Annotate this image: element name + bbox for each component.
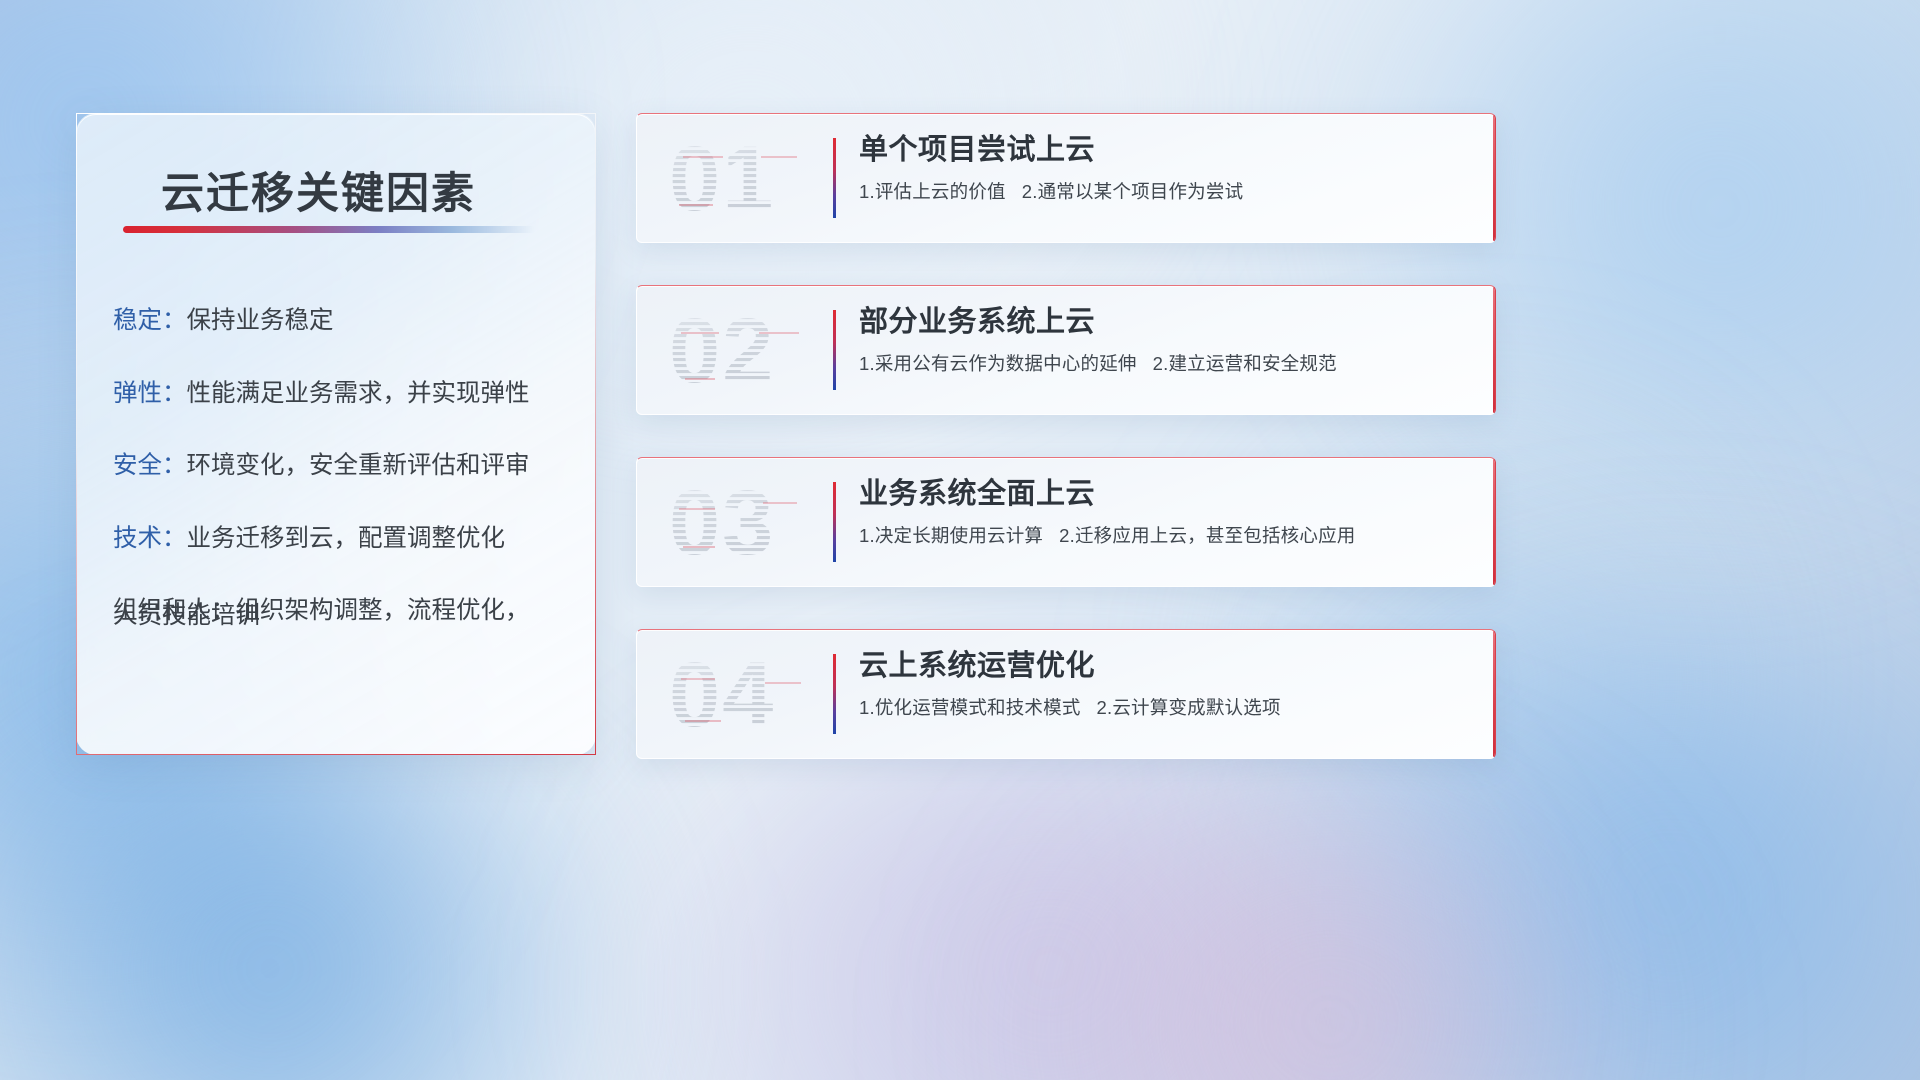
stage-point-1: 1.优化运营模式和技术模式	[859, 697, 1081, 718]
factor-label: 弹性：	[113, 380, 187, 407]
stage-title: 云上系统运营优化	[859, 648, 1475, 684]
stage-point-1: 1.采用公有云作为数据中心的延伸	[859, 353, 1137, 374]
stage-number-02-icon: 02	[665, 298, 833, 402]
stage-description: 1.采用公有云作为数据中心的延伸2.建立运营和安全规范	[859, 350, 1475, 376]
factor-item-security: 安全：环境变化，安全重新评估和评审	[113, 454, 569, 479]
stage-number-01-icon: 01	[665, 126, 833, 230]
stage-description: 1.评估上云的价值2.通常以某个项目作为尝试	[859, 178, 1475, 204]
stage-number-04-icon: 04	[665, 642, 833, 746]
factor-label: 稳定：	[113, 307, 187, 334]
factor-item-organization: 组织和人：组织架构调整，流程优化， 人员技能培训	[113, 599, 569, 628]
factor-value: 业务迁移到云，配置调整优化	[187, 525, 506, 552]
factor-label: 技术：	[113, 525, 187, 552]
stage-card-list: 01 单个项目尝试上云 1.评估上云的价值2.通常以某个项目作为尝试	[636, 113, 1858, 801]
stage-point-2: 2.建立运营和安全规范	[1153, 353, 1337, 374]
stage-card-01[interactable]: 01 单个项目尝试上云 1.评估上云的价值2.通常以某个项目作为尝试	[636, 113, 1496, 243]
factor-item-technology: 技术：业务迁移到云，配置调整优化	[113, 527, 569, 552]
stage-number-03-icon: 03	[665, 470, 833, 574]
stage-point-1: 1.决定长期使用云计算	[859, 525, 1043, 546]
stage-card-02[interactable]: 02 部分业务系统上云 1.采用公有云作为数据中心的延伸2.建立运营和安全规范	[636, 285, 1496, 415]
stage-accent-bar	[833, 138, 836, 218]
stage-description: 1.优化运营模式和技术模式2.云计算变成默认选项	[859, 694, 1475, 720]
page-title: 云迁移关键因素	[161, 159, 476, 221]
stage-point-2: 2.云计算变成默认选项	[1097, 697, 1281, 718]
stage-point-2: 2.迁移应用上云，甚至包括核心应用	[1059, 525, 1355, 546]
factor-value: 环境变化，安全重新评估和评审	[187, 452, 530, 479]
svg-text:03: 03	[669, 472, 775, 574]
svg-text:01: 01	[669, 128, 775, 230]
stage-point-1: 1.评估上云的价值	[859, 181, 1006, 202]
stage-card-04[interactable]: 04 云上系统运营优化 1.优化运营模式和技术模式2.云计算变成默认选项	[636, 629, 1496, 759]
title-underline-accent	[123, 226, 535, 233]
factor-value: 组织架构调整，流程优化，	[236, 597, 530, 624]
svg-text:04: 04	[669, 644, 775, 746]
stage-description: 1.决定长期使用云计算2.迁移应用上云，甚至包括核心应用	[859, 522, 1475, 548]
svg-text:02: 02	[669, 300, 775, 402]
factor-value: 保持业务稳定	[187, 307, 334, 334]
stage-title: 部分业务系统上云	[859, 304, 1475, 340]
factor-list: 稳定：保持业务稳定 弹性：性能满足业务需求，并实现弹性 安全：环境变化，安全重新…	[113, 309, 569, 676]
stage-accent-bar	[833, 654, 836, 734]
factor-item-stability: 稳定：保持业务稳定	[113, 309, 569, 334]
factor-item-elasticity: 弹性：性能满足业务需求，并实现弹性	[113, 382, 569, 407]
stage-title: 单个项目尝试上云	[859, 132, 1475, 168]
factor-label: 安全：	[113, 452, 187, 479]
key-factors-panel: 云迁移关键因素 稳定：保持业务稳定 弹性：性能满足业务需求，并实现弹性 安全：环…	[76, 113, 596, 755]
stage-accent-bar	[833, 482, 836, 562]
stage-point-2: 2.通常以某个项目作为尝试	[1022, 181, 1244, 202]
stage-title: 业务系统全面上云	[859, 476, 1475, 512]
stage-accent-bar	[833, 310, 836, 390]
stage-card-03[interactable]: 03 业务系统全面上云 1.决定长期使用云计算2.迁移应用上云，甚至包括核心应用	[636, 457, 1496, 587]
factor-value: 性能满足业务需求，并实现弹性	[187, 380, 530, 407]
